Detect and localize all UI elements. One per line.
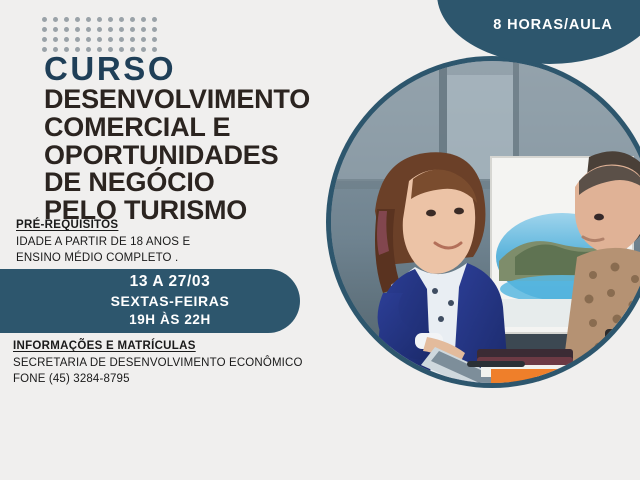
photo-circle-frame (326, 56, 640, 388)
page-title: DESENVOLVIMENTO COMERCIAL E OPORTUNIDADE… (44, 86, 310, 225)
enrollment-heading: INFORMAÇÕES E MATRÍCULAS (13, 340, 303, 352)
prerequisites-heading: PRÉ-REQUISITOS (16, 219, 190, 231)
enrollment-line-2: FONE (45) 3284-8795 (13, 371, 303, 387)
schedule-time: 19H ÀS 22H (40, 311, 300, 329)
page-eyebrow: CURSO (44, 52, 176, 85)
title-line-3: OPORTUNIDADES (44, 142, 310, 170)
title-line-2: COMERCIAL E (44, 114, 310, 142)
photo-illustration (331, 61, 640, 383)
course-poster: 8 HORAS/AULA (0, 0, 640, 480)
title-line-4: DE NEGÓCIO (44, 169, 310, 197)
prerequisites-block: PRÉ-REQUISITOS IDADE A PARTIR DE 18 ANOS… (16, 219, 190, 267)
hours-badge-label: 8 HORAS/AULA (466, 17, 640, 33)
footer-logo-bar (0, 420, 640, 480)
enrollment-block: INFORMAÇÕES E MATRÍCULAS SECRETARIA DE D… (13, 340, 303, 388)
prerequisites-line-1: IDADE A PARTIR DE 18 ANOS E (16, 234, 190, 250)
course-photo (331, 61, 640, 383)
schedule-days: SEXTAS-FEIRAS (40, 292, 300, 311)
prerequisites-line-2: ENSINO MÉDIO COMPLETO . (16, 250, 190, 266)
enrollment-line-1: SECRETARIA DE DESENVOLVIMENTO ECONÔMICO (13, 355, 303, 371)
schedule-dates: 13 A 27/03 (40, 271, 300, 292)
title-line-1: DESENVOLVIMENTO (44, 86, 310, 114)
schedule-text: 13 A 27/03 SEXTAS-FEIRAS 19H ÀS 22H (40, 271, 300, 330)
